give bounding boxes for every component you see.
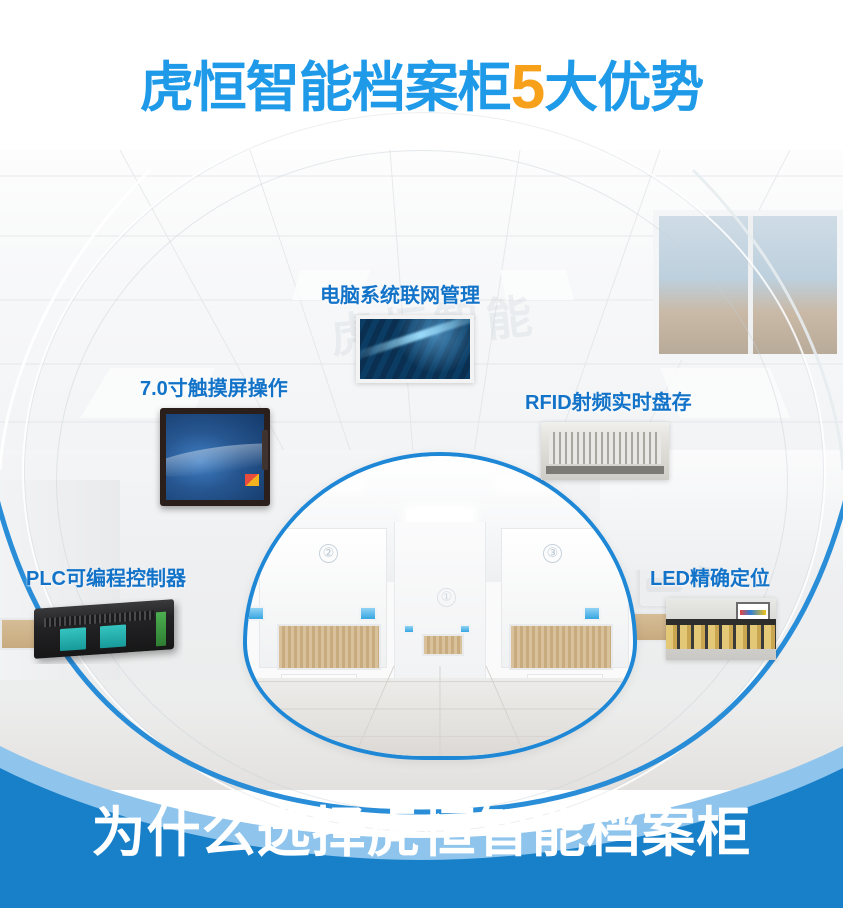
feature-plc-controller[interactable]: PLC可编程控制器 — [26, 566, 186, 664]
led-display-panel — [736, 602, 770, 622]
page-title-number: 5 — [511, 53, 544, 122]
monitor-screen — [166, 414, 264, 500]
page-title-text: 虎恒智能档案柜5大优势 — [0, 56, 843, 120]
keyboard-photo[interactable] — [356, 315, 474, 383]
led-shelf-photo[interactable] — [666, 598, 776, 660]
photo-files-left — [277, 624, 381, 670]
feature-label: PLC可编程控制器 — [26, 566, 186, 592]
photo-cabinet-number-3: ③ — [543, 544, 562, 563]
photo-led-right-1 — [583, 606, 601, 621]
photo-cabinet-number-2: ② — [319, 544, 338, 563]
keyboard-image — [360, 319, 470, 379]
feature-touchscreen[interactable]: 7.0寸触摸屏操作 — [140, 376, 288, 506]
rfid-shelf-image — [541, 422, 669, 480]
photo-corridor — [394, 522, 487, 690]
feature-label: RFID射频实时盘存 — [525, 390, 692, 416]
plc-module-photo[interactable] — [28, 598, 183, 664]
photo-led-far-1 — [403, 624, 415, 634]
photo-led-left-2 — [359, 606, 377, 621]
feature-computer-network-management[interactable]: 电脑系统联网管理 — [320, 283, 480, 383]
page-title-prefix: 虎恒智能档案柜 — [140, 58, 511, 118]
photo-cabinet-number-1: ① — [437, 588, 456, 607]
footer-banner: 为什么选择虎恒智能档案柜 — [0, 742, 843, 908]
photo-ceiling-light-2 — [309, 478, 363, 490]
feature-label: 电脑系统联网管理 — [320, 283, 480, 309]
photo-led-far-2 — [459, 624, 471, 634]
feature-rfid-inventory[interactable]: RFID射频实时盘存 — [525, 390, 692, 480]
feature-label: 7.0寸触摸屏操作 — [140, 376, 288, 402]
footer-headline: 为什么选择虎恒智能档案柜 — [0, 800, 843, 866]
center-photo-inner: ② ③ ① — [247, 456, 633, 756]
plc-terminal-block — [156, 612, 166, 647]
feature-led-positioning[interactable]: LED精确定位 — [650, 566, 776, 660]
page-title-suffix: 大优势 — [544, 58, 703, 118]
window — [653, 210, 843, 360]
plc-body — [34, 599, 174, 659]
plc-label-a — [60, 627, 86, 651]
photo-files-far — [422, 634, 464, 656]
photo-files-right — [509, 624, 613, 670]
center-archive-room-photo[interactable]: ② ③ ① — [243, 452, 637, 760]
led-shelf-image — [666, 598, 776, 660]
plc-label-b — [100, 624, 126, 648]
monitor-side-buttons — [262, 430, 268, 470]
feature-label: LED精确定位 — [650, 566, 776, 592]
photo-led-left-1 — [247, 606, 265, 621]
touch-monitor-photo[interactable] — [160, 408, 270, 506]
plc-vent — [44, 611, 154, 628]
page-title: 虎恒智能档案柜5大优势 — [0, 56, 843, 120]
promo-page: 虎恒智能档案柜5大优势 — [0, 0, 843, 908]
rfid-shelf-photo[interactable] — [541, 422, 669, 480]
